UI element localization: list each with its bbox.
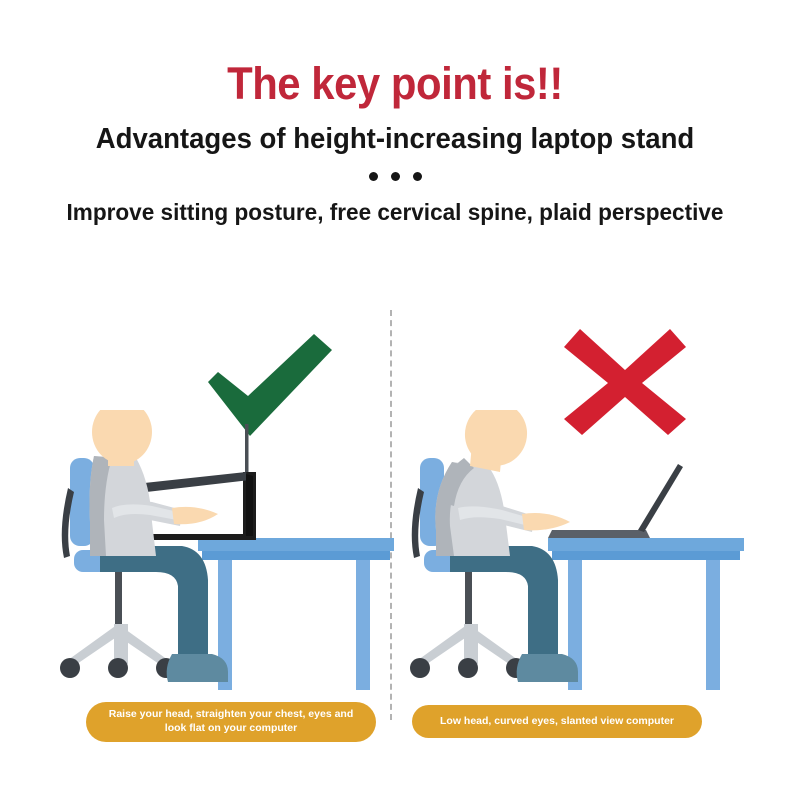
laptop-flat bbox=[548, 464, 683, 538]
page-title: The key point is!! bbox=[28, 0, 763, 110]
page-tagline: Improve sitting posture, free cervical s… bbox=[16, 182, 774, 226]
header: The key point is!! Advantages of height-… bbox=[0, 0, 790, 226]
dot-icon bbox=[391, 172, 400, 181]
separator-dots bbox=[0, 156, 790, 182]
product-infographic-page: The key point is!! Advantages of height-… bbox=[0, 0, 790, 788]
dot-icon bbox=[369, 172, 378, 181]
caption-bad-posture: Low head, curved eyes, slanted view comp… bbox=[412, 705, 702, 738]
caption-good-posture: Raise your head, straighten your chest, … bbox=[86, 702, 376, 742]
page-subtitle: Advantages of height-increasing laptop s… bbox=[20, 110, 771, 156]
good-posture-illustration bbox=[60, 410, 400, 710]
bad-posture-illustration bbox=[410, 410, 750, 710]
dot-icon bbox=[413, 172, 422, 181]
